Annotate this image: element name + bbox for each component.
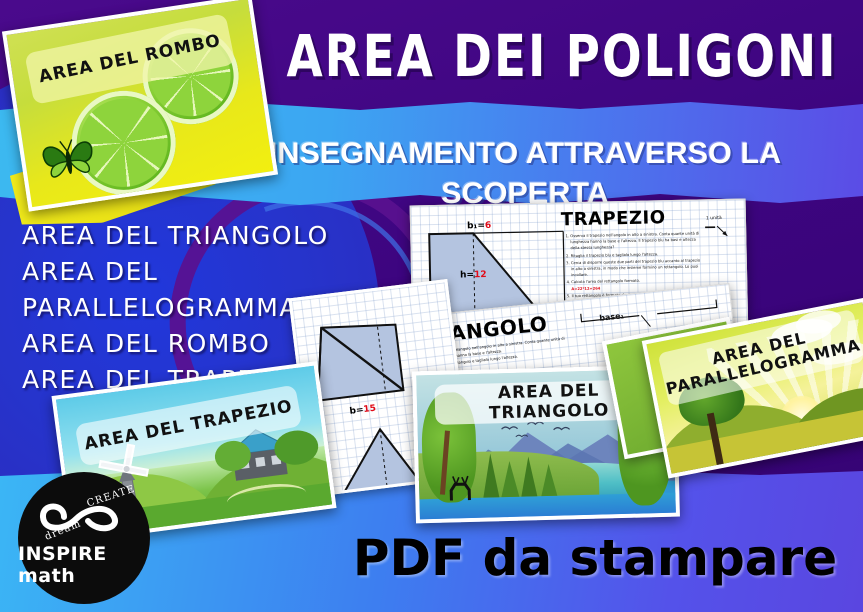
- step-item: Osserva il trapezio nell'angolo in alto …: [570, 230, 701, 251]
- unit-scale-icon: [703, 224, 733, 241]
- worksheet-title: TRAPEZIO: [561, 207, 666, 230]
- page-title: AREA DEI POLIGONI: [272, 18, 852, 96]
- footer-text: PDF da stampare: [340, 525, 850, 591]
- deer-icon: [445, 474, 480, 505]
- logo-name: INSPIRE math: [18, 543, 150, 587]
- formula-rectangle: A=22*12=264: [571, 286, 600, 291]
- butterfly-icon: [36, 131, 101, 189]
- conifer-trees: [470, 441, 581, 500]
- brand-logo[interactable]: dream CREATE INSPIRE math: [18, 472, 150, 604]
- trapezoid-h-label: h=12: [460, 270, 487, 281]
- poster-canvas: AREA DEI POLIGONI INSEGNAMENTO ATTRAVERS…: [0, 0, 863, 612]
- unit-scale-label: 1 unità: [706, 216, 722, 221]
- step-item: Cerca di disporre queste due parti del t…: [571, 257, 702, 278]
- list-item: AREA DEL TRIANGOLO: [22, 218, 442, 254]
- page-subtitle: INSEGNAMENTO ATTRAVERSO LA SCOPERTA: [194, 134, 857, 174]
- infinity-icon: dream CREATE: [38, 495, 130, 539]
- card-area-del-rombo[interactable]: AREA DEL ROMBO: [2, 0, 278, 212]
- trapezoid-b1-label: b₁=6: [467, 221, 491, 232]
